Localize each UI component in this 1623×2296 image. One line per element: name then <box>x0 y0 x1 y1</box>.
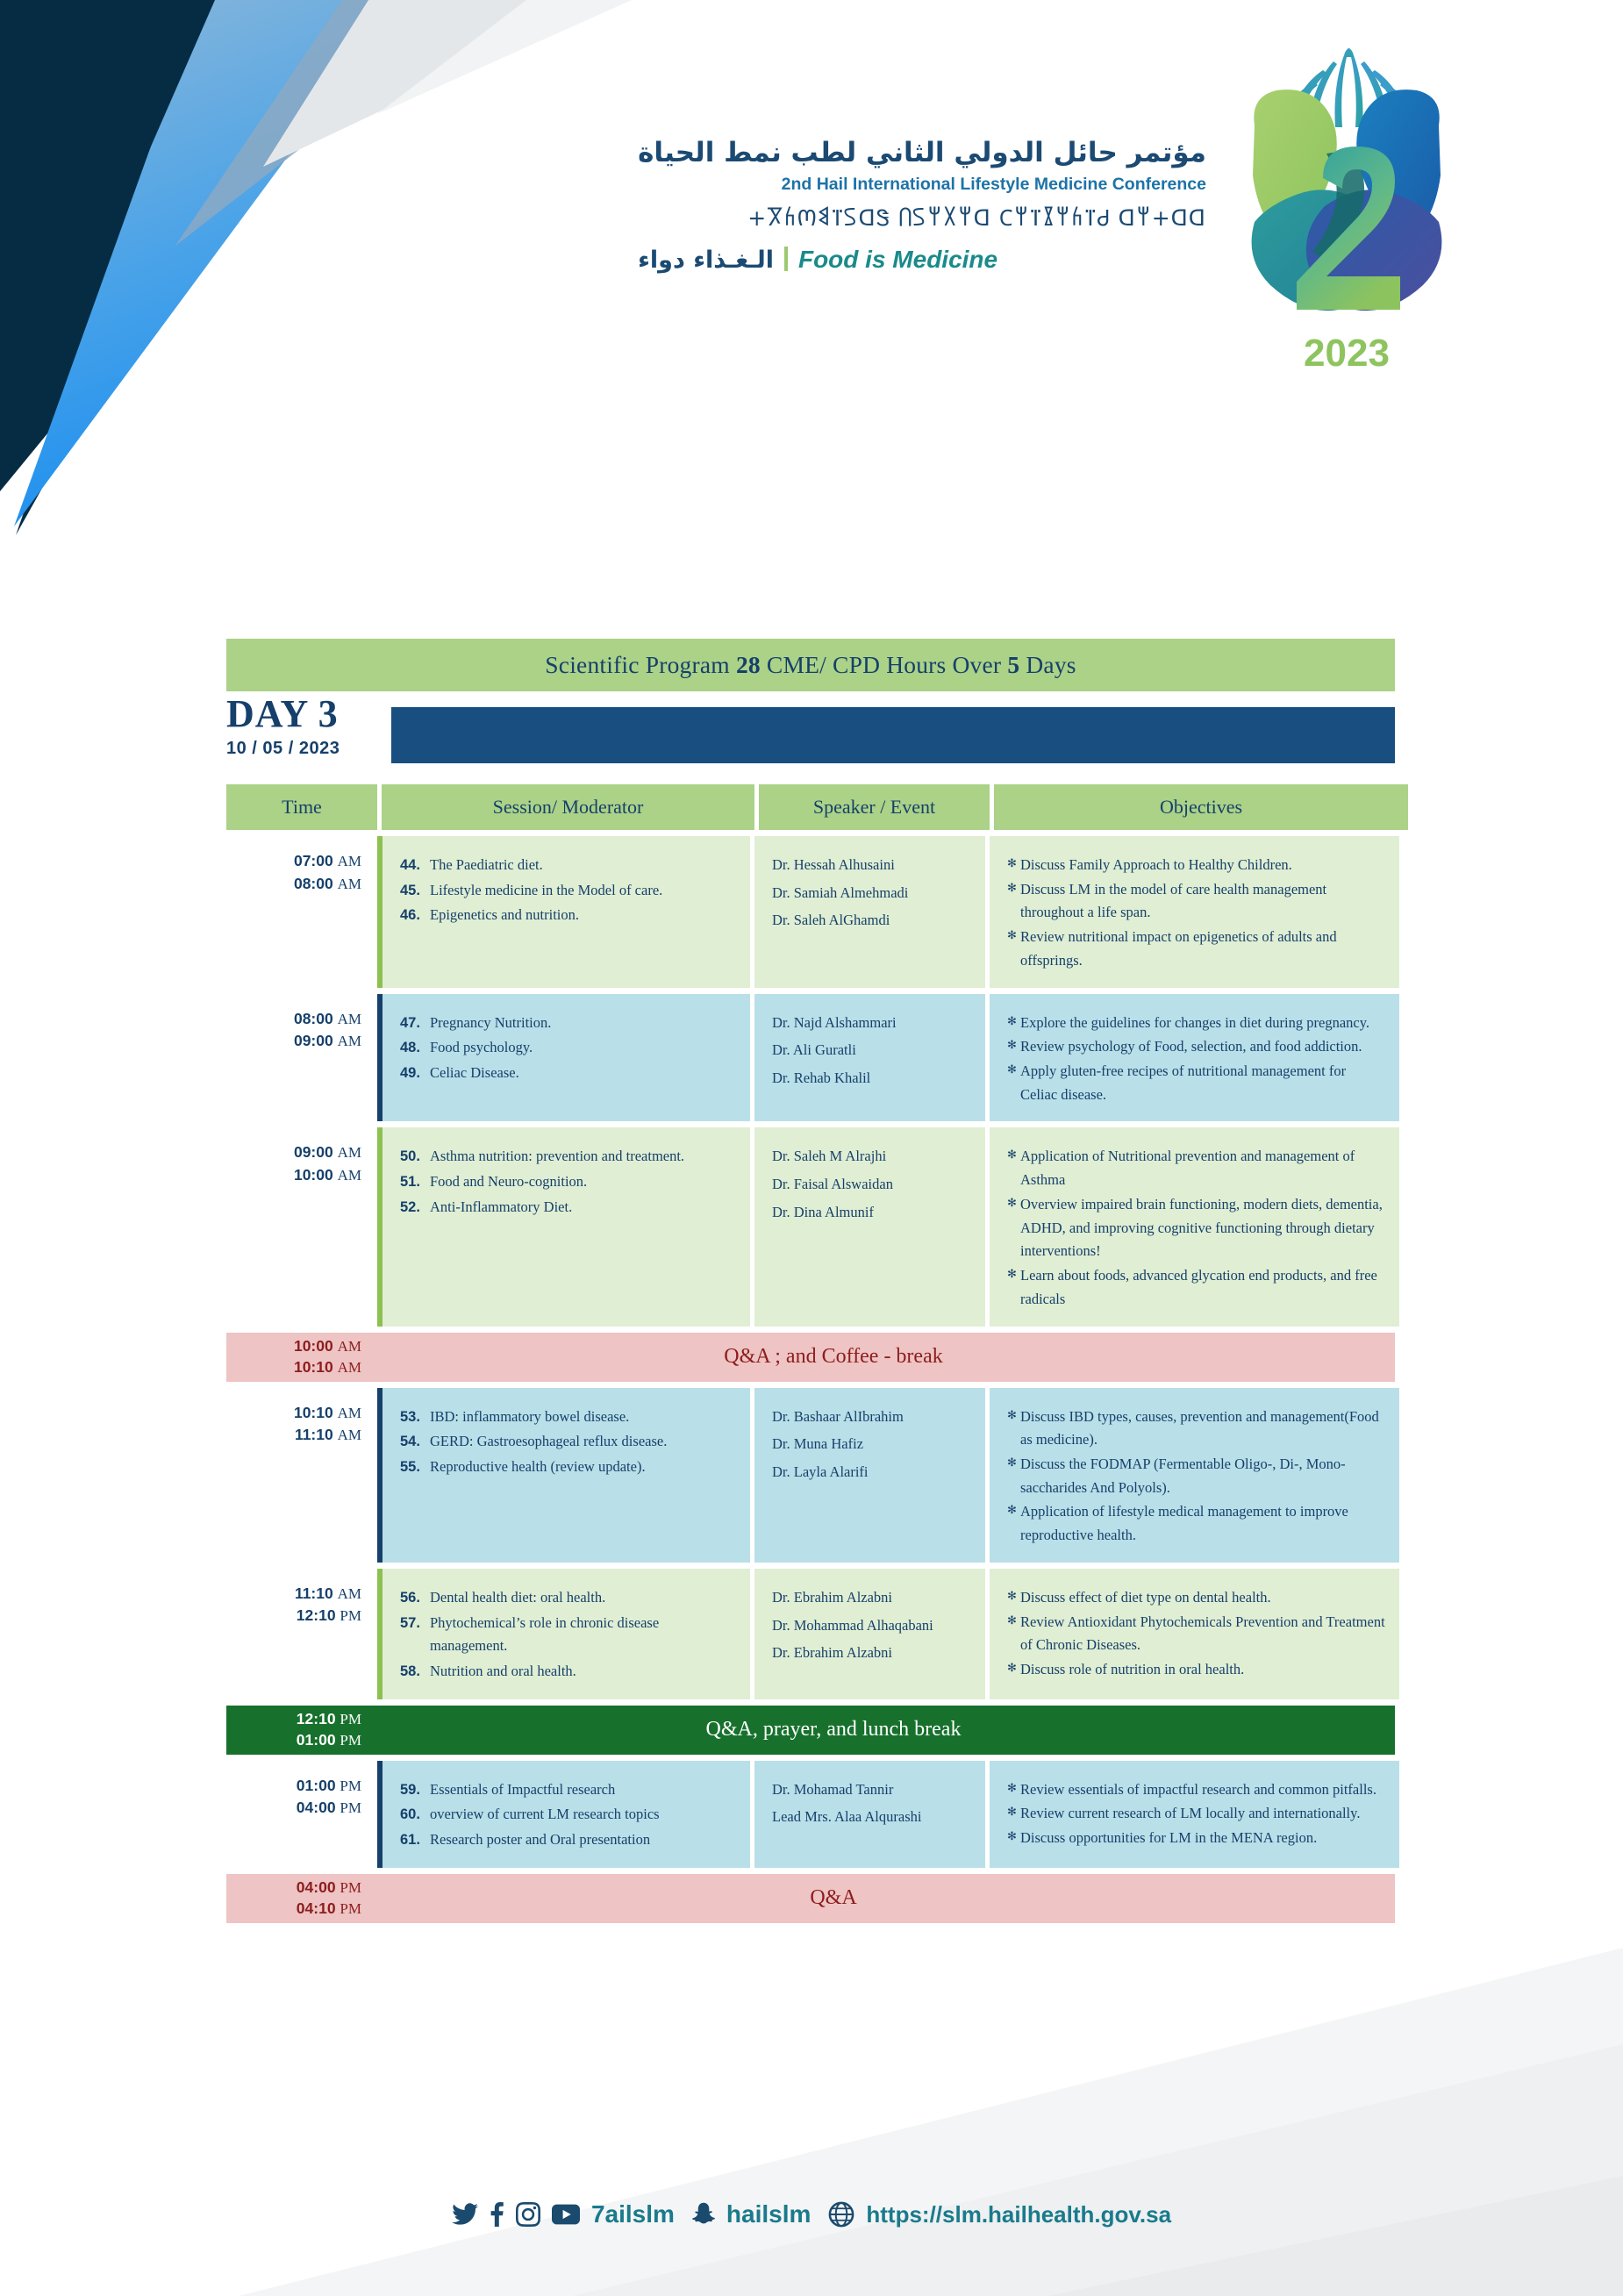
column-header-session: Session/ Moderator <box>382 784 754 830</box>
table-row: 10:10 AM11:10 AM53.IBD: inflammatory bow… <box>226 1388 1395 1563</box>
session-number: 53. <box>400 1405 430 1429</box>
speaker-name: Dr. Saleh AlGhamdi <box>772 909 971 933</box>
objective-bullet-icon: ✻ <box>1007 1145 1020 1191</box>
session-item: 44.The Paediatric diet. <box>400 854 736 877</box>
objective-bullet-icon: ✻ <box>1007 854 1020 877</box>
speaker-name: Dr. Najd Alshammari <box>772 1012 971 1035</box>
session-end-time: 09:00 AM <box>294 1030 361 1053</box>
program-banner-text: Scientific Program 28 CME/ CPD Hours Ove… <box>545 651 1076 679</box>
session-title: GERD: Gastroesophageal reflux disease. <box>430 1430 736 1454</box>
objectives-cell: ✻Explore the guidelines for changes in d… <box>990 994 1399 1122</box>
objective-text: Discuss IBD types, causes, prevention an… <box>1020 1405 1385 1452</box>
break-end-time: 01:00 PM <box>297 1730 361 1751</box>
session-number: 46. <box>400 904 430 927</box>
session-title: Reproductive health (review update). <box>430 1456 736 1479</box>
session-number: 58. <box>400 1660 430 1684</box>
session-end-time: 11:10 AM <box>295 1424 361 1447</box>
objective-item: ✻Apply gluten-free recipes of nutritiona… <box>1007 1060 1385 1106</box>
break-label: Q&A ; and Coffee - break <box>377 1345 1290 1369</box>
session-number: 60. <box>400 1803 430 1827</box>
objectives-cell: ✻Discuss Family Approach to Healthy Chil… <box>990 836 1399 988</box>
speaker-name: Dr. Ebrahim Alzabni <box>772 1642 971 1665</box>
english-title: 2nd Hail International Lifestyle Medicin… <box>638 175 1206 195</box>
objectives-cell: ✻Review essentials of impactful research… <box>990 1761 1399 1868</box>
table-rows-container: 07:00 AM08:00 AM44.The Paediatric diet.4… <box>226 836 1395 1923</box>
session-title: Dental health diet: oral health. <box>430 1586 736 1610</box>
website-url[interactable]: https://slm.hailhealth.gov.sa <box>866 2201 1171 2228</box>
instagram-icon[interactable] <box>516 2202 540 2227</box>
objective-bullet-icon: ✻ <box>1007 1827 1020 1850</box>
speaker-name: Dr. Layla Alarifi <box>772 1461 971 1484</box>
conference-logo: 2023 <box>1228 22 1465 386</box>
tagline-arabic: الـغـذاء دواء <box>638 247 774 274</box>
objective-item: ✻Discuss role of nutrition in oral healt… <box>1007 1658 1385 1682</box>
session-item: 45.Lifestyle medicine in the Model of ca… <box>400 879 736 903</box>
speaker-name: Dr. Samiah Almehmadi <box>772 882 971 905</box>
table-row: 11:10 AM12:10 PM56.Dental health diet: o… <box>226 1569 1395 1699</box>
objectives-cell: ✻Discuss effect of diet type on dental h… <box>990 1569 1399 1699</box>
objective-text: Discuss LM in the model of care health m… <box>1020 878 1385 925</box>
speaker-name: Dr. Dina Almunif <box>772 1201 971 1225</box>
session-item: 58.Nutrition and oral health. <box>400 1660 736 1684</box>
break-start-time: 10:00 AM <box>294 1336 361 1357</box>
logo-year: 2023 <box>1304 332 1390 375</box>
session-start-time: 08:00 AM <box>294 1008 361 1031</box>
break-end-time: 10:10 AM <box>294 1357 361 1378</box>
objective-text: Discuss role of nutrition in oral health… <box>1020 1658 1385 1682</box>
session-title: Celiac Disease. <box>430 1062 736 1085</box>
session-cell: 47.Pregnancy Nutrition.48.Food psycholog… <box>383 994 750 1122</box>
speaker-cell: Dr. Mohamad TannirLead Mrs. Alaa Alquras… <box>754 1761 985 1868</box>
speaker-cell: Dr. Saleh M AlrajhiDr. Faisal AlswaidanD… <box>754 1127 985 1326</box>
speaker-name: Dr. Saleh M Alrajhi <box>772 1145 971 1169</box>
objective-text: Discuss the FODMAP (Fermentable Oligo-, … <box>1020 1453 1385 1499</box>
break-row: 10:00 AM10:10 AMQ&A ; and Coffee - break <box>226 1333 1395 1382</box>
document-header: مؤتمر حائل الدولي الثاني لطب نمط الحياة … <box>0 0 1623 412</box>
snapchat-icon[interactable] <box>692 2202 715 2227</box>
objective-item: ✻Application of lifestyle medical manage… <box>1007 1500 1385 1547</box>
time-cell: 01:00 PM04:00 PM <box>226 1761 377 1868</box>
column-header-time: Time <box>226 784 377 830</box>
time-cell: 11:10 AM12:10 PM <box>226 1569 377 1699</box>
facebook-icon[interactable] <box>490 2202 504 2227</box>
conference-title-block: مؤتمر حائل الدولي الثاني لطب نمط الحياة … <box>638 136 1206 274</box>
objective-item: ✻Review essentials of impactful research… <box>1007 1778 1385 1802</box>
session-start-time: 07:00 AM <box>294 850 361 873</box>
session-title: Nutrition and oral health. <box>430 1660 736 1684</box>
objective-text: Application of Nutritional prevention an… <box>1020 1145 1385 1191</box>
page-root: مؤتمر حائل الدولي الثاني لطب نمط الحياة … <box>0 0 1623 2296</box>
objective-bullet-icon: ✻ <box>1007 1453 1020 1499</box>
program-table: Time Session/ Moderator Speaker / Event … <box>226 784 1395 1929</box>
time-cell: 08:00 AM09:00 AM <box>226 994 377 1122</box>
footer: 7ailslm hailslm https://slm.hailhealth.g… <box>0 2200 1623 2228</box>
objective-item: ✻Discuss IBD types, causes, prevention a… <box>1007 1405 1385 1452</box>
session-title: Essentials of Impactful research <box>430 1778 736 1802</box>
time-cell: 07:00 AM08:00 AM <box>226 836 377 988</box>
session-number: 49. <box>400 1062 430 1085</box>
break-time-cell: 12:10 PM01:00 PM <box>226 1709 377 1751</box>
day-bar: DAY 3 10 / 05 / 2023 <box>226 707 1395 763</box>
speaker-name: Dr. Rehab Khalil <box>772 1067 971 1091</box>
objectives-cell: ✻Discuss IBD types, causes, prevention a… <box>990 1388 1399 1563</box>
session-item: 59.Essentials of Impactful research <box>400 1778 736 1802</box>
objective-text: Learn about foods, advanced glycation en… <box>1020 1264 1385 1311</box>
arabic-title: مؤتمر حائل الدولي الثاني لطب نمط الحياة <box>638 136 1206 170</box>
speaker-name: Dr. Mohammad Alhaqabani <box>772 1614 971 1638</box>
speaker-name: Dr. Ali Guratli <box>772 1039 971 1062</box>
speaker-cell: Dr. Ebrahim AlzabniDr. Mohammad Alhaqaba… <box>754 1569 985 1699</box>
objective-bullet-icon: ✻ <box>1007 1193 1020 1263</box>
session-item: 57.Phytochemical’s role in chronic disea… <box>400 1612 736 1658</box>
session-end-time: 04:00 PM <box>297 1797 361 1820</box>
column-header-objectives: Objectives <box>994 784 1408 830</box>
objective-item: ✻Application of Nutritional prevention a… <box>1007 1145 1385 1191</box>
break-time-cell: 10:00 AM10:10 AM <box>226 1336 377 1378</box>
session-item: 54.GERD: Gastroesophageal reflux disease… <box>400 1430 736 1454</box>
objective-bullet-icon: ✻ <box>1007 1264 1020 1311</box>
session-title: Phytochemical’s role in chronic disease … <box>430 1612 736 1658</box>
session-title: overview of current LM research topics <box>430 1803 736 1827</box>
session-cell: 53.IBD: inflammatory bowel disease.54.GE… <box>383 1388 750 1563</box>
session-item: 46.Epigenetics and nutrition. <box>400 904 736 927</box>
snapchat-handle: hailslm <box>726 2200 811 2228</box>
objective-item: ✻Review Antioxidant Phytochemicals Preve… <box>1007 1611 1385 1657</box>
session-item: 47.Pregnancy Nutrition. <box>400 1012 736 1035</box>
objective-text: Review current research of LM locally an… <box>1020 1802 1385 1826</box>
objective-item: ✻Discuss opportunities for LM in the MEN… <box>1007 1827 1385 1850</box>
speaker-cell: Dr. Najd AlshammariDr. Ali GuratliDr. Re… <box>754 994 985 1122</box>
objective-text: Discuss effect of diet type on dental he… <box>1020 1586 1385 1610</box>
session-item: 56.Dental health diet: oral health. <box>400 1586 736 1610</box>
session-title: Asthma nutrition: prevention and treatme… <box>430 1145 736 1169</box>
objective-bullet-icon: ✻ <box>1007 1802 1020 1826</box>
break-label: Q&A <box>377 1886 1290 1910</box>
session-number: 47. <box>400 1012 430 1035</box>
session-number: 52. <box>400 1196 430 1220</box>
objective-item: ✻Discuss the FODMAP (Fermentable Oligo-,… <box>1007 1453 1385 1499</box>
session-title: The Paediatric diet. <box>430 854 736 877</box>
speaker-cell: Dr. Bashaar AlIbrahimDr. Muna HafizDr. L… <box>754 1388 985 1563</box>
objective-item: ✻Discuss Family Approach to Healthy Chil… <box>1007 854 1385 877</box>
break-start-time: 12:10 PM <box>297 1709 361 1730</box>
globe-icon[interactable] <box>828 2201 854 2228</box>
time-cell: 10:10 AM11:10 AM <box>226 1388 377 1563</box>
speaker-cell: Dr. Hessah AlhusainiDr. Samiah Almehmadi… <box>754 836 985 988</box>
objective-text: Review essentials of impactful research … <box>1020 1778 1385 1802</box>
objective-bullet-icon: ✻ <box>1007 1060 1020 1106</box>
tagline-english: Food is Medicine <box>798 246 997 274</box>
table-row: 09:00 AM10:00 AM50.Asthma nutrition: pre… <box>226 1127 1395 1326</box>
objective-text: Overview impaired brain functioning, mod… <box>1020 1193 1385 1263</box>
session-item: 61.Research poster and Oral presentation <box>400 1828 736 1852</box>
column-header-speaker: Speaker / Event <box>759 784 990 830</box>
speaker-name: Dr. Mohamad Tannir <box>772 1778 971 1802</box>
session-end-time: 10:00 AM <box>294 1164 361 1187</box>
tagline-row: الـغـذاء دواء Food is Medicine <box>638 243 1206 274</box>
objective-item: ✻Learn about foods, advanced glycation e… <box>1007 1264 1385 1311</box>
table-row: 01:00 PM04:00 PM59.Essentials of Impactf… <box>226 1761 1395 1868</box>
session-number: 48. <box>400 1036 430 1060</box>
table-row: 07:00 AM08:00 AM44.The Paediatric diet.4… <box>226 836 1395 988</box>
objective-bullet-icon: ✻ <box>1007 926 1020 972</box>
session-title: Anti-Inflammatory Diet. <box>430 1196 736 1220</box>
objective-item: ✻Review psychology of Food, selection, a… <box>1007 1035 1385 1059</box>
session-title: Lifestyle medicine in the Model of care. <box>430 879 736 903</box>
break-row: 12:10 PM01:00 PMQ&A, prayer, and lunch b… <box>226 1706 1395 1755</box>
decorative-bottom-shapes <box>0 1913 1623 2296</box>
session-item: 51.Food and Neuro-cognition. <box>400 1170 736 1194</box>
session-start-time: 11:10 AM <box>295 1583 361 1606</box>
session-number: 59. <box>400 1778 430 1802</box>
break-end-time: 04:10 PM <box>297 1899 361 1920</box>
day-label-block: DAY 3 10 / 05 / 2023 <box>226 695 375 759</box>
session-item: 49.Celiac Disease. <box>400 1062 736 1085</box>
objective-item: ✻Overview impaired brain functioning, mo… <box>1007 1193 1385 1263</box>
twitter-icon[interactable] <box>452 2203 478 2226</box>
objective-text: Discuss Family Approach to Healthy Child… <box>1020 854 1385 877</box>
break-time-cell: 04:00 PM04:10 PM <box>226 1878 377 1920</box>
objective-item: ✻Review nutritional impact on epigenetic… <box>1007 926 1385 972</box>
session-end-time: 12:10 PM <box>297 1605 361 1627</box>
session-cell: 56.Dental health diet: oral health.57.Ph… <box>383 1569 750 1699</box>
session-number: 55. <box>400 1456 430 1479</box>
youtube-icon[interactable] <box>552 2204 580 2225</box>
session-item: 50.Asthma nutrition: prevention and trea… <box>400 1145 736 1169</box>
session-number: 56. <box>400 1586 430 1610</box>
session-title: Epigenetics and nutrition. <box>430 904 736 927</box>
speaker-name: Dr. Muna Hafiz <box>772 1433 971 1456</box>
objective-item: ✻Discuss effect of diet type on dental h… <box>1007 1586 1385 1610</box>
session-title: Food psychology. <box>430 1036 736 1060</box>
break-start-time: 04:00 PM <box>297 1878 361 1899</box>
time-cell: 09:00 AM10:00 AM <box>226 1127 377 1326</box>
session-number: 45. <box>400 879 430 903</box>
session-item: 48.Food psychology. <box>400 1036 736 1060</box>
session-start-time: 09:00 AM <box>294 1141 361 1164</box>
session-number: 57. <box>400 1612 430 1658</box>
break-row: 04:00 PM04:10 PMQ&A <box>226 1874 1395 1923</box>
day-title: DAY 3 <box>226 695 375 733</box>
session-item: 53.IBD: inflammatory bowel disease. <box>400 1405 736 1429</box>
thamudic-script-title: +Ⴟ𐩫Ო𐩣ⴶ𐊖ᗡᏕ Ⴖ𐊖𐩢𐩩𐩢ᗡ 𐊢𐩢ⴶ𐩫𐩢𐩸ⴶᏧ ᗡ𐩢+ᗡᗡ <box>638 203 1206 232</box>
session-title: IBD: inflammatory bowel disease. <box>430 1405 736 1429</box>
day-date: 10 / 05 / 2023 <box>226 739 375 759</box>
session-end-time: 08:00 AM <box>294 873 361 896</box>
session-number: 54. <box>400 1430 430 1454</box>
objective-item: ✻Review current research of LM locally a… <box>1007 1802 1385 1826</box>
objective-bullet-icon: ✻ <box>1007 1611 1020 1657</box>
tagline-separator <box>784 247 788 271</box>
objective-item: ✻Explore the guidelines for changes in d… <box>1007 1012 1385 1035</box>
session-start-time: 10:10 AM <box>294 1402 361 1425</box>
objective-text: Review Antioxidant Phytochemicals Preven… <box>1020 1611 1385 1657</box>
speaker-name: Dr. Ebrahim Alzabni <box>772 1586 971 1610</box>
session-number: 50. <box>400 1145 430 1169</box>
objective-text: Review nutritional impact on epigenetics… <box>1020 926 1385 972</box>
session-title: Pregnancy Nutrition. <box>430 1012 736 1035</box>
speaker-name: Dr. Faisal Alswaidan <box>772 1173 971 1197</box>
objective-bullet-icon: ✻ <box>1007 1012 1020 1035</box>
session-title: Research poster and Oral presentation <box>430 1828 736 1852</box>
session-item: 55.Reproductive health (review update). <box>400 1456 736 1479</box>
session-cell: 59.Essentials of Impactful research60.ov… <box>383 1761 750 1868</box>
session-number: 51. <box>400 1170 430 1194</box>
objective-bullet-icon: ✻ <box>1007 1658 1020 1682</box>
objective-bullet-icon: ✻ <box>1007 1500 1020 1547</box>
table-header-row: Time Session/ Moderator Speaker / Event … <box>226 784 1395 830</box>
session-start-time: 01:00 PM <box>297 1775 361 1798</box>
session-cell: 50.Asthma nutrition: prevention and trea… <box>383 1127 750 1326</box>
objective-item: ✻Discuss LM in the model of care health … <box>1007 878 1385 925</box>
objective-text: Explore the guidelines for changes in di… <box>1020 1012 1385 1035</box>
objective-text: Discuss opportunities for LM in the MENA… <box>1020 1827 1385 1850</box>
objective-bullet-icon: ✻ <box>1007 878 1020 925</box>
program-banner: Scientific Program 28 CME/ CPD Hours Ove… <box>226 639 1395 691</box>
table-row: 08:00 AM09:00 AM47.Pregnancy Nutrition.4… <box>226 994 1395 1122</box>
session-item: 60.overview of current LM research topic… <box>400 1803 736 1827</box>
objective-bullet-icon: ✻ <box>1007 1035 1020 1059</box>
speaker-name: Lead Mrs. Alaa Alqurashi <box>772 1806 971 1829</box>
session-number: 61. <box>400 1828 430 1852</box>
break-label: Q&A, prayer, and lunch break <box>377 1718 1290 1742</box>
objective-bullet-icon: ✻ <box>1007 1405 1020 1452</box>
session-item: 52.Anti-Inflammatory Diet. <box>400 1196 736 1220</box>
session-title: Food and Neuro-cognition. <box>430 1170 736 1194</box>
session-cell: 44.The Paediatric diet.45.Lifestyle medi… <box>383 836 750 988</box>
social-handle: 7ailslm <box>591 2200 675 2228</box>
session-number: 44. <box>400 854 430 877</box>
speaker-name: Dr. Bashaar AlIbrahim <box>772 1405 971 1429</box>
objective-text: Application of lifestyle medical managem… <box>1020 1500 1385 1547</box>
speaker-name: Dr. Hessah Alhusaini <box>772 854 971 877</box>
objective-text: Review psychology of Food, selection, an… <box>1020 1035 1385 1059</box>
objective-bullet-icon: ✻ <box>1007 1586 1020 1610</box>
objectives-cell: ✻Application of Nutritional prevention a… <box>990 1127 1399 1326</box>
day-bar-fill <box>391 707 1395 763</box>
objective-bullet-icon: ✻ <box>1007 1778 1020 1802</box>
objective-text: Apply gluten-free recipes of nutritional… <box>1020 1060 1385 1106</box>
